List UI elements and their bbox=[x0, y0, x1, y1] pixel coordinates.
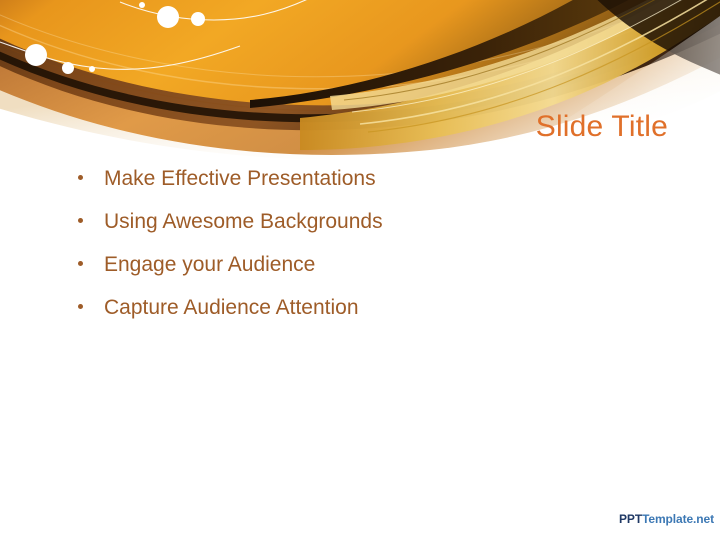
accent-dot-medium-left bbox=[62, 62, 74, 74]
wave-ribbon-dark bbox=[250, 0, 720, 108]
slide-title[interactable]: Slide Title bbox=[300, 110, 668, 144]
list-item-label: Engage your Audience bbox=[104, 253, 315, 276]
accent-connector-lines bbox=[0, 0, 310, 69]
presentation-slide: Slide Title Make Effective Presentations… bbox=[0, 0, 720, 540]
list-item[interactable]: Using Awesome Backgrounds bbox=[72, 209, 632, 234]
accent-dot-large-top bbox=[157, 6, 179, 28]
bullet-list: Make Effective Presentations Using Aweso… bbox=[72, 166, 632, 338]
bullet-dot-icon bbox=[78, 261, 83, 266]
accent-dot-large-left bbox=[25, 44, 47, 66]
wave-stripe-dark bbox=[0, 0, 720, 122]
accent-dot-medium-top bbox=[191, 12, 205, 26]
accent-dot-small-top bbox=[139, 2, 145, 8]
list-item-label: Capture Audience Attention bbox=[104, 296, 359, 319]
bullet-dot-icon bbox=[78, 218, 83, 223]
accent-dots bbox=[25, 2, 205, 74]
wave-highlight-lines bbox=[0, 0, 720, 111]
list-item[interactable]: Capture Audience Attention bbox=[72, 295, 632, 320]
list-item-label: Using Awesome Backgrounds bbox=[104, 210, 383, 233]
list-item[interactable]: Make Effective Presentations bbox=[72, 166, 632, 191]
bullet-dot-icon bbox=[78, 175, 83, 180]
wave-ribbon-gold-thin bbox=[330, 0, 720, 110]
footer-logo-secondary: Template.net bbox=[642, 512, 714, 526]
list-item[interactable]: Engage your Audience bbox=[72, 252, 632, 277]
wave-right-dark-mass bbox=[560, 0, 720, 92]
connector-line-upper bbox=[120, 0, 310, 20]
footer-logo[interactable]: PPTTemplate.net bbox=[0, 512, 714, 526]
bullet-dot-icon bbox=[78, 304, 83, 309]
list-item-label: Make Effective Presentations bbox=[104, 167, 376, 190]
footer-logo-primary: PPT bbox=[619, 512, 642, 526]
accent-dot-small-left bbox=[89, 66, 95, 72]
wave-band-orange bbox=[0, 0, 720, 105]
connector-line-lower bbox=[0, 40, 240, 69]
